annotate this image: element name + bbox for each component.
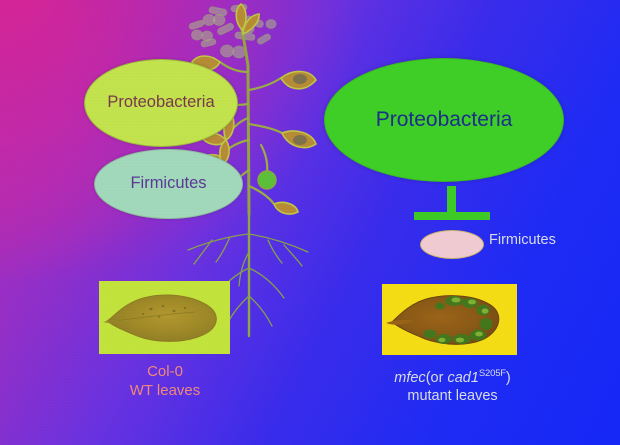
wt-caption: Col-0 WT leaves [79, 363, 251, 401]
mutant-firmicutes-label: Firmicutes [489, 232, 556, 248]
gene-mfec: mfec [394, 370, 425, 386]
caption-closer: ) [506, 370, 511, 386]
mutant-proteobacteria-ellipse: Proteobacteria [324, 58, 564, 182]
mutant-firmicutes-ellipse [420, 230, 484, 259]
mutant-proteobacteria-label: Proteobacteria [376, 109, 513, 131]
wt-caption-line1: Col-0 [79, 363, 251, 382]
mutant-leaf-photo [382, 284, 517, 355]
wt-firmicutes-ellipse: Firmicutes [94, 149, 243, 219]
caption-connector: (or [426, 370, 448, 386]
wt-proteobacteria-label: Proteobacteria [107, 94, 214, 111]
inhibition-t-bar-icon [414, 186, 490, 226]
mutant-caption-line2: mutant leaves [355, 387, 550, 405]
wt-caption-line2: WT leaves [79, 382, 251, 401]
wt-firmicutes-label: Firmicutes [130, 175, 206, 192]
wt-leaf-photo [99, 281, 230, 354]
gene-cad1: cad1 [447, 370, 478, 386]
inhibition-crossbar [414, 212, 490, 220]
wt-proteobacteria-ellipse: Proteobacteria [84, 59, 238, 147]
mutant-caption-line1: mfec(or cad1S205F) [355, 368, 550, 387]
gene-cad1-superscript: S205F [479, 368, 506, 379]
mutant-caption: mfec(or cad1S205F) mutant leaves [355, 368, 550, 405]
figure-canvas: .stem { stroke:#93a63c; stroke-width:3; … [0, 0, 620, 445]
